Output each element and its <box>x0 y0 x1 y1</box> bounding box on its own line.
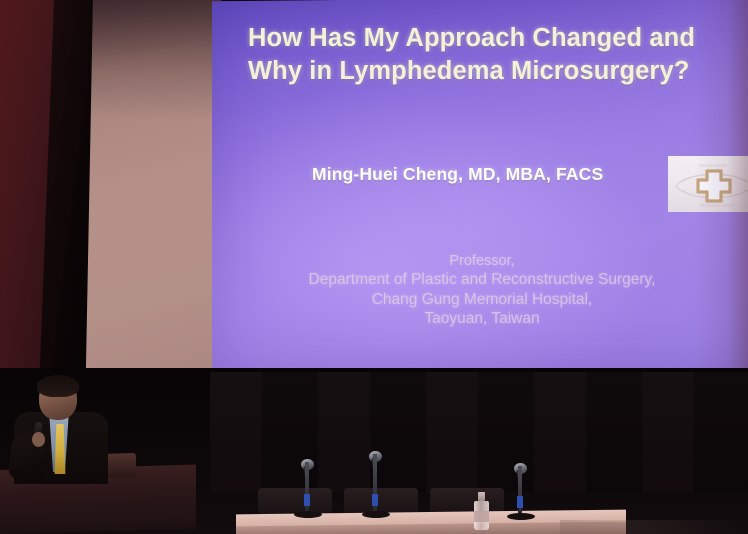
affiliation-line-4: Taoyuan, Taiwan <box>212 309 748 329</box>
chair-back <box>344 488 418 514</box>
projection-screen: How Has My Approach Changed and Why in L… <box>212 0 748 372</box>
slide-presenter-name: Ming-Huei Cheng, MD, MBA, FACS <box>312 164 603 185</box>
microphone-pole <box>518 466 522 516</box>
presenter-figure <box>8 378 118 482</box>
presenter-hand <box>32 432 45 447</box>
water-bottle <box>474 492 489 530</box>
chair-back <box>430 488 504 514</box>
microphone-blue-band <box>372 494 378 506</box>
chair-back <box>258 488 332 514</box>
slide-title-line-2: Why in Lymphedema Microsurgery? <box>248 55 738 88</box>
table-light-glare <box>560 520 748 534</box>
slide-affiliation: Professor, Department of Plastic and Rec… <box>212 252 748 329</box>
microphone-pole <box>305 462 309 514</box>
presenter-hair <box>37 375 79 397</box>
lecture-hall-photo: How Has My Approach Changed and Why in L… <box>0 0 748 534</box>
affiliation-line-2: Department of Plastic and Reconstructive… <box>212 270 748 290</box>
microphone-blue-band <box>304 494 310 506</box>
microphone-base <box>507 513 535 520</box>
bottle-cap <box>478 492 485 501</box>
microphone-blue-band <box>517 496 523 508</box>
affiliation-line-3: Chang Gung Memorial Hospital, <box>212 290 748 310</box>
microphone-base <box>294 511 322 518</box>
microphone-base <box>362 511 390 518</box>
svg-text:CHANG GUNG: CHANG GUNG <box>698 163 727 168</box>
affiliation-line-1: Professor, <box>212 252 748 270</box>
hospital-cross-logo: CHANG GUNG MEMORIAL HOSP. <box>668 156 748 212</box>
slide-title-line-1: How Has My Approach Changed and <box>248 22 738 55</box>
svg-text:MEMORIAL HOSP.: MEMORIAL HOSP. <box>699 203 735 208</box>
auditorium-wall-shadow <box>91 0 221 120</box>
slide-title: How Has My Approach Changed and Why in L… <box>248 22 738 87</box>
bottle-label <box>474 511 489 522</box>
stage-back-wall <box>210 372 748 492</box>
